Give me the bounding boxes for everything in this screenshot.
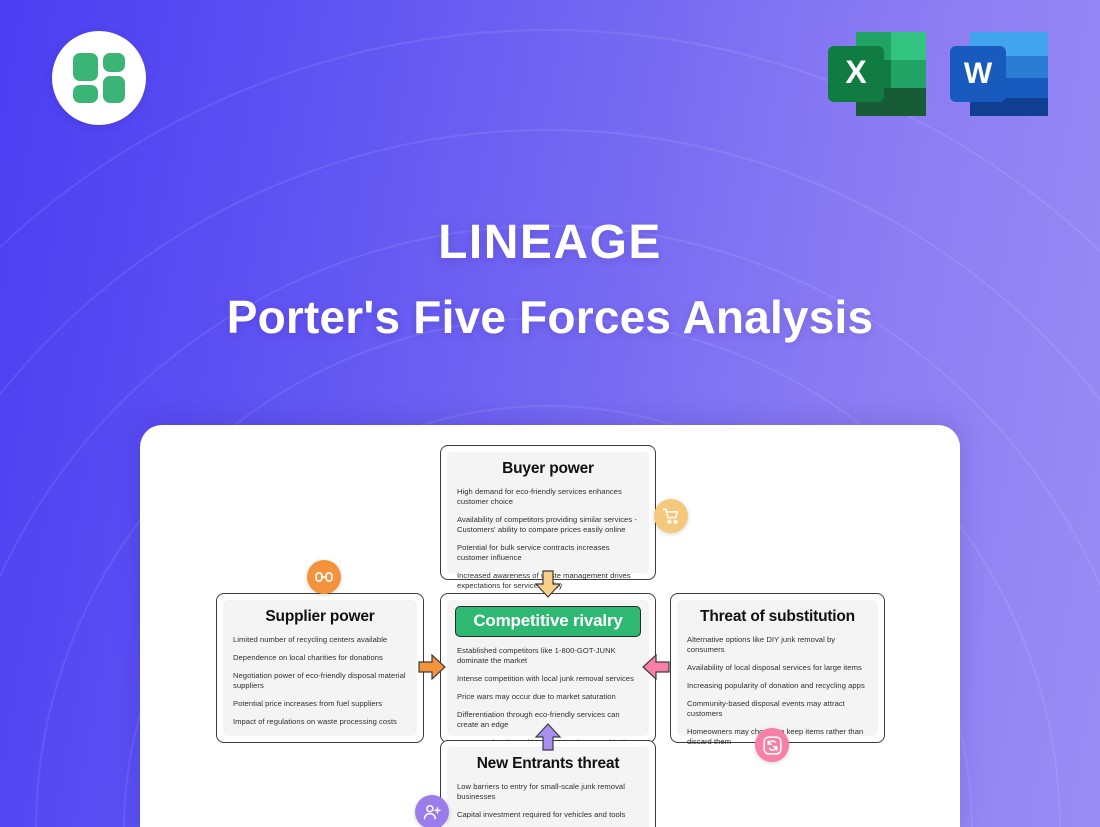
card-title: Buyer power xyxy=(457,460,639,478)
list-item: Potential price increases from fuel supp… xyxy=(233,699,407,709)
link-chain-icon[interactable] xyxy=(307,560,341,594)
list-item: Impact of regulations on waste processin… xyxy=(233,717,407,727)
list-item: Availability of competitors providing si… xyxy=(457,515,639,535)
card-title: Threat of substitution xyxy=(687,608,868,626)
bullet-list: Low barriers to entry for small-scale ju… xyxy=(457,782,639,827)
card-threat-of-substitution[interactable]: Threat of substitution Alternative optio… xyxy=(670,593,885,743)
card-title: New Entrants threat xyxy=(457,755,639,773)
add-user-icon[interactable] xyxy=(415,795,449,827)
list-item: Capital investment required for vehicles… xyxy=(457,810,639,820)
card-new-entrants-threat[interactable]: New Entrants threat Low barriers to entr… xyxy=(440,740,656,827)
title-block: LINEAGE Porter's Five Forces Analysis xyxy=(0,218,1100,344)
list-item: Limited number of recycling centers avai… xyxy=(233,635,407,645)
excel-icon[interactable]: X xyxy=(828,28,926,120)
list-item: Established competitors like 1-800-GOT-J… xyxy=(457,646,639,666)
list-item: High demand for eco-friendly services en… xyxy=(457,487,639,507)
svg-text:W: W xyxy=(964,57,993,90)
card-body: Threat of substitution Alternative optio… xyxy=(677,600,878,736)
list-item: Low barriers to entry for small-scale ju… xyxy=(457,782,639,802)
list-item: Potential for bulk service contracts inc… xyxy=(457,543,639,563)
list-item: Price wars may occur due to market satur… xyxy=(457,692,639,702)
card-body: Supplier power Limited number of recycli… xyxy=(223,600,417,736)
entrants-to-rivalry-arrow xyxy=(534,723,562,751)
list-item: Dependence on local charities for donati… xyxy=(233,653,407,663)
list-item: Availability of local disposal services … xyxy=(687,663,868,673)
card-body: New Entrants threat Low barriers to entr… xyxy=(447,747,649,827)
card-body: Competitive rivalry Established competit… xyxy=(447,600,649,736)
card-supplier-power[interactable]: Supplier power Limited number of recycli… xyxy=(216,593,424,743)
buyer-to-rivalry-arrow xyxy=(534,570,562,598)
card-competitive-rivalry[interactable]: Competitive rivalry Established competit… xyxy=(440,593,656,743)
card-title: Supplier power xyxy=(233,608,407,626)
card-body: Buyer power High demand for eco-friendly… xyxy=(447,452,649,573)
diagram-panel: Buyer power High demand for eco-friendly… xyxy=(140,425,960,827)
substitute-to-rivalry-arrow xyxy=(642,653,670,681)
page-title: Porter's Five Forces Analysis xyxy=(0,290,1100,344)
list-item: Community-based disposal events may attr… xyxy=(687,699,868,719)
brand-logo xyxy=(52,31,146,125)
svg-text:X: X xyxy=(845,54,867,90)
card-buyer-power[interactable]: Buyer power High demand for eco-friendly… xyxy=(440,445,656,580)
list-item: Alternative options like DIY junk remova… xyxy=(687,635,868,655)
word-icon[interactable]: W xyxy=(950,28,1048,120)
office-icons-group: X W xyxy=(828,28,1048,120)
list-item: Increasing popularity of donation and re… xyxy=(687,681,868,691)
card-title: Competitive rivalry xyxy=(455,606,641,637)
shopping-cart-icon[interactable] xyxy=(654,499,688,533)
list-item: Negotiation power of eco-friendly dispos… xyxy=(233,671,407,691)
grid-blocks-logo-icon xyxy=(73,53,125,103)
list-item: Intense competition with local junk remo… xyxy=(457,674,639,684)
supplier-to-rivalry-arrow xyxy=(418,653,446,681)
brand-name: LINEAGE xyxy=(0,218,1100,268)
bullet-list: Limited number of recycling centers avai… xyxy=(233,635,407,727)
refresh-cycle-icon[interactable] xyxy=(755,728,789,762)
